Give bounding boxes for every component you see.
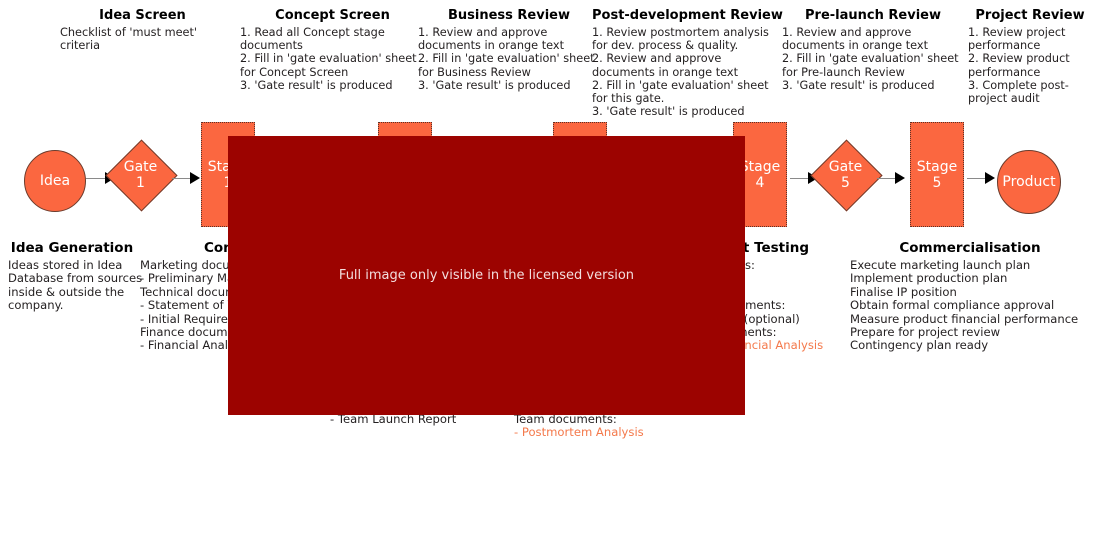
doc-line: Obtain formal compliance approval [850,299,1090,312]
flow-node-idea[interactable]: Idea [24,150,86,212]
gate-header-line: 3. 'Gate result' is produced [418,79,600,92]
gate-label-bottom: 5 [841,175,850,191]
flow-node-product[interactable]: Product [997,150,1061,214]
doc-line: Implement production plan [850,272,1090,285]
gate-header-line: Checklist of 'must meet' [60,26,225,39]
gate-header-business-review: Business Review 1. Review and approve do… [418,8,600,92]
gate-header-title: Project Review [968,8,1092,23]
gate-header-line: 3. Complete post- [968,79,1092,92]
arrowhead-icon [190,172,200,184]
gate-header-line: documents in orange text [418,39,600,52]
gate-header-line: documents in orange text [592,66,777,79]
gate-header-line: for Pre-launch Review [782,66,964,79]
stage-label-top: Stage [740,159,780,175]
doc-line: Measure product financial performance [850,313,1090,326]
gate-header-line: performance [968,66,1092,79]
gate-header-title: Business Review [418,8,600,23]
stage-description-body: Execute marketing launch plan Implement … [850,259,1090,353]
doc-line: Execute marketing launch plan [850,259,1090,272]
stage-description-idea-generation: Idea Generation Ideas stored in Idea Dat… [8,240,136,313]
gate-header-line: 1. Read all Concept stage [240,26,425,39]
flow-node-gate-5-label: Gate 5 [821,150,870,199]
stage-label-bottom: 4 [756,175,765,191]
gate-header-body: 1. Review and approve documents in orang… [782,26,964,92]
gate-header-concept-screen: Concept Screen 1. Read all Concept stage… [240,8,425,92]
gate-header-title: Idea Screen [60,8,225,23]
stage-gate-diagram: Idea Screen Checklist of 'must meet' cri… [0,0,1097,537]
gate-header-line: 2. Fill in 'gate evaluation' sheet [418,52,600,65]
gate-header-line: 3. 'Gate result' is produced [782,79,964,92]
gate-header-post-development-review: Post-development Review 1. Review postmo… [592,8,777,118]
gate-header-line: for Business Review [418,66,600,79]
gate-label-bottom: 1 [136,175,145,191]
gate-header-pre-launch-review: Pre-launch Review 1. Review and approve … [782,8,964,92]
gate-header-body: 1. Review and approve documents in orang… [418,26,600,92]
gate-header-line: 3. 'Gate result' is produced [240,79,425,92]
stage-description-commercialisation: Commercialisation Execute marketing laun… [850,240,1090,353]
licensed-version-watermark: Full image only visible in the licensed … [228,136,745,415]
gate-header-line: 2. Review and approve [592,52,777,65]
gate-header-line: performance [968,39,1092,52]
flow-node-gate-1-label: Gate 1 [116,150,165,199]
gate-header-project-review: Project Review 1. Review project perform… [968,8,1092,105]
gate-header-body: 1. Review postmortem analysis for dev. p… [592,26,777,118]
gate-header-line: documents [240,39,425,52]
arrowhead-icon [985,172,995,184]
doc-line: Finalise IP position [850,286,1090,299]
gate-header-title: Post-development Review [592,8,777,23]
doc-line: - Postmortem Analysis [514,426,714,439]
gate-header-line: project audit [968,92,1092,105]
gate-header-body: 1. Review project performance 2. Review … [968,26,1092,105]
doc-line: inside & outside the [8,286,136,299]
gate-label-top: Gate [829,159,863,175]
gate-header-line: 2. Fill in 'gate evaluation' sheet [782,52,964,65]
flow-node-stage-5[interactable]: Stage 5 [910,122,964,227]
gate-header-line: documents in orange text [782,39,964,52]
doc-line: Contingency plan ready [850,339,1090,352]
gate-header-line: criteria [60,39,225,52]
gate-header-title: Concept Screen [240,8,425,23]
gate-header-line: 2. Fill in 'gate evaluation' sheet [592,79,777,92]
gate-header-line: 3. 'Gate result' is produced [592,105,777,118]
doc-line: company. [8,299,136,312]
stage-description-title: Idea Generation [8,240,136,256]
gate-header-idea-screen: Idea Screen Checklist of 'must meet' cri… [60,8,225,52]
doc-line: Prepare for project review [850,326,1090,339]
gate-header-line: 1. Review postmortem analysis [592,26,777,39]
gate-header-line: for this gate. [592,92,777,105]
gate-header-line: 2. Review product [968,52,1092,65]
gate-header-title: Pre-launch Review [782,8,964,23]
doc-line: Database from sources [8,272,136,285]
gate-header-line: for dev. process & quality. [592,39,777,52]
gate-header-line: for Concept Screen [240,66,425,79]
gate-header-body: 1. Read all Concept stage documents 2. F… [240,26,425,92]
stage-label-bottom: 5 [933,175,942,191]
gate-header-line: 1. Review and approve [418,26,600,39]
gate-header-line: 2. Fill in 'gate evaluation' sheet [240,52,425,65]
watermark-text: Full image only visible in the licensed … [339,268,634,283]
arrowhead-icon [895,172,905,184]
flow-node-label: Idea [40,173,70,189]
stage-description-body: Ideas stored in Idea Database from sourc… [8,259,136,313]
gate-label-top: Gate [124,159,158,175]
doc-line: Ideas stored in Idea [8,259,136,272]
gate-header-line: 1. Review and approve [782,26,964,39]
flow-node-label: Product [1002,174,1055,190]
stage-label-top: Stage [917,159,957,175]
stage-description-title: Commercialisation [850,240,1090,256]
gate-header-line: 1. Review project [968,26,1092,39]
gate-header-body: Checklist of 'must meet' criteria [60,26,225,52]
